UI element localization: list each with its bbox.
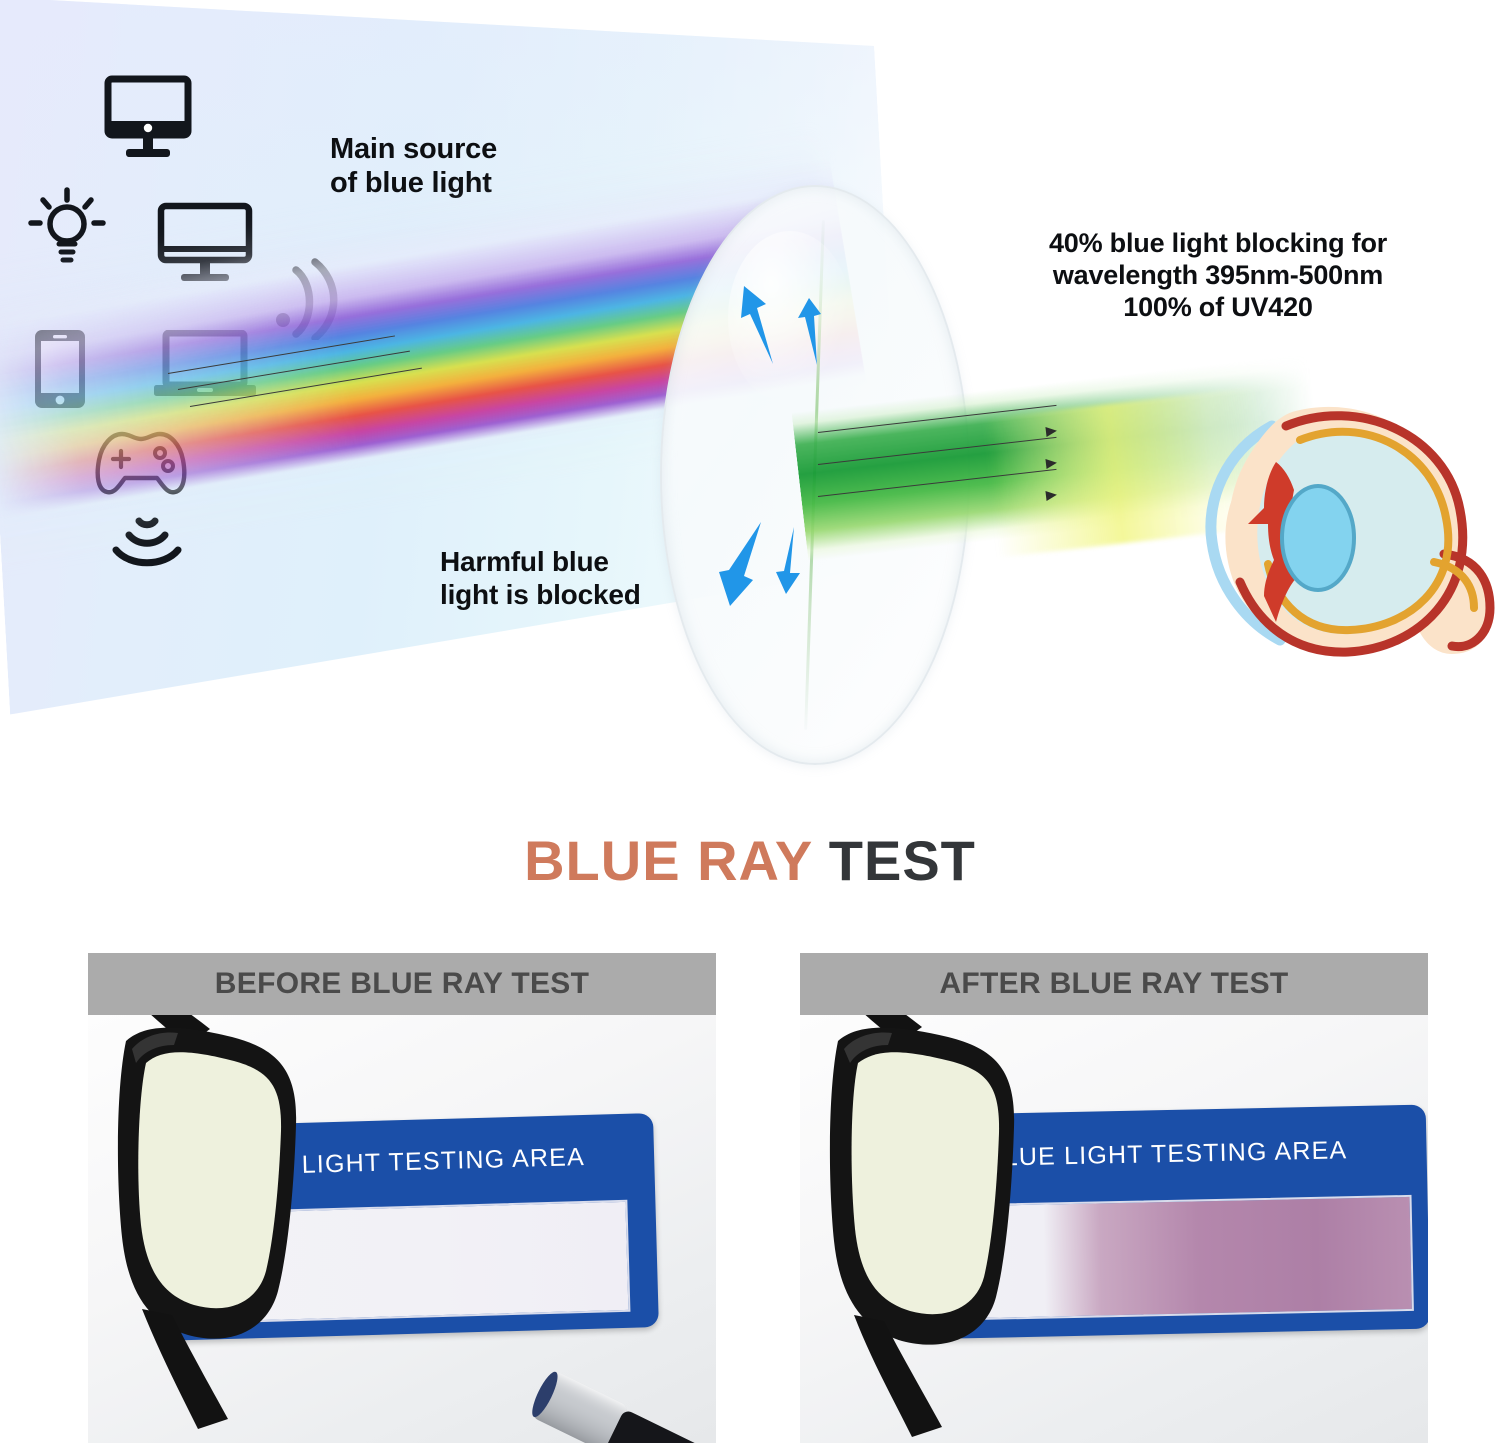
harmful-blocked-line1: Harmful blue [440, 545, 641, 578]
harmful-blocked-line2: light is blocked [440, 578, 641, 611]
flashlight-icon [528, 1371, 716, 1443]
after-panel: AFTER BLUE RAY TEST BLUE LIGHT TESTING A… [800, 953, 1428, 1443]
blocking-spec-line1: 40% blue light blocking for [1003, 228, 1433, 260]
page-title-part1: BLUE RAY [524, 829, 812, 892]
reflected-arrow-up-large-icon [733, 282, 797, 368]
eyeglasses-frame [800, 1015, 1092, 1443]
blue-light-diagram: Main source of blue light 40% blue light… [0, 0, 1500, 820]
before-panel-header: BEFORE BLUE RAY TEST [88, 953, 716, 1015]
transmitted-ray-arrowhead [1045, 458, 1057, 469]
main-source-label-line1: Main source [330, 132, 497, 166]
blocking-spec-label: 40% blue light blocking for wavelength 3… [1003, 228, 1433, 324]
after-panel-photo: BLUE LIGHT TESTING AREA [800, 1015, 1428, 1443]
after-panel-header: AFTER BLUE RAY TEST [800, 953, 1428, 1015]
eye-anatomy-icon [1172, 378, 1500, 678]
before-panel-heading: BEFORE BLUE RAY TEST [215, 967, 589, 1001]
infographic-root: Main source of blue light 40% blue light… [0, 0, 1500, 1443]
harmful-blocked-label: Harmful blue light is blocked [440, 545, 641, 611]
transmitted-ray-arrowhead [1045, 490, 1057, 501]
page-title-part2: TEST [829, 829, 976, 892]
after-panel-heading: AFTER BLUE RAY TEST [939, 967, 1288, 1001]
eyeglasses-frame [88, 1015, 382, 1443]
before-panel-photo: BLUE LIGHT TESTING AREA [88, 1015, 716, 1443]
reflected-arrow-up-small-icon [795, 295, 831, 369]
desktop-monitor-icon [100, 75, 196, 163]
reflected-arrow-down-large-icon [700, 518, 772, 610]
page-title: BLUE RAY TEST [0, 828, 1500, 893]
reflected-arrow-down-small-icon [770, 525, 808, 597]
transmitted-ray-arrowhead [1045, 426, 1057, 437]
blocking-spec-line3: 100% of UV420 [1003, 292, 1433, 324]
blocking-spec-line2: wavelength 395nm-500nm [1003, 260, 1433, 292]
before-panel: BEFORE BLUE RAY TEST BLUE LIGHT TESTING … [88, 953, 716, 1443]
